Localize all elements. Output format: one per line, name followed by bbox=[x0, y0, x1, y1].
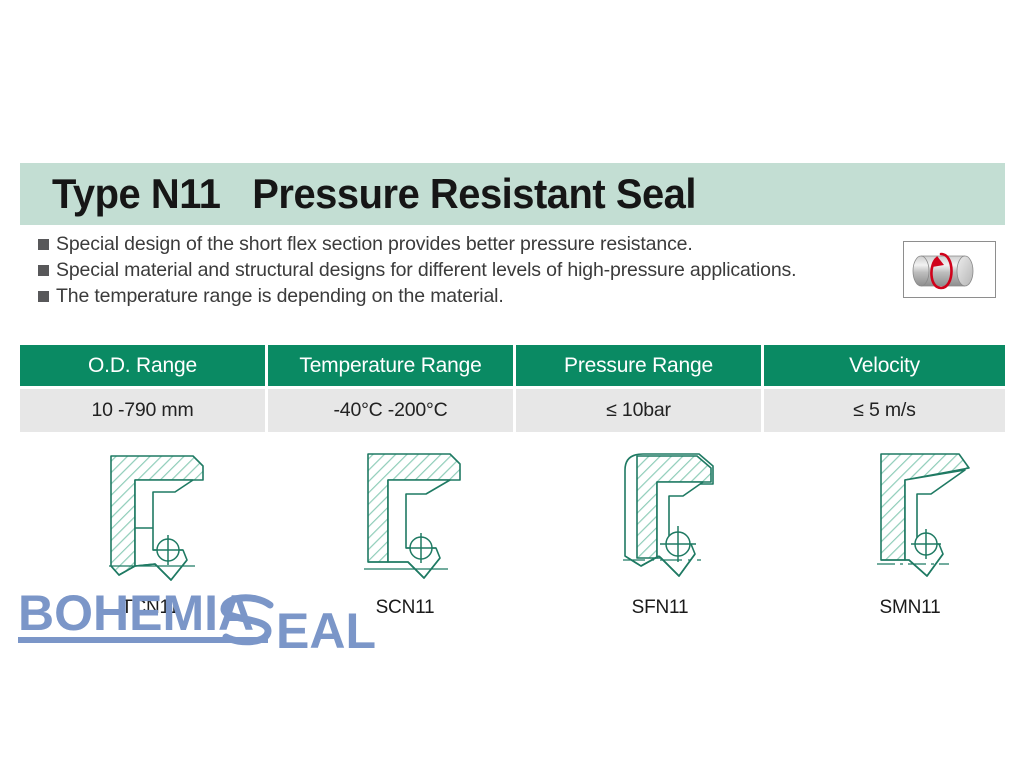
seal-diagram-label: TCN11 bbox=[55, 597, 245, 619]
table-header-cell: O.D. Range bbox=[20, 345, 265, 386]
square-bullet-icon bbox=[38, 239, 49, 250]
feature-item: Special design of the short flex section… bbox=[38, 232, 888, 257]
table-header-cell: Temperature Range bbox=[268, 345, 513, 386]
table-header-cell: Pressure Range bbox=[516, 345, 761, 386]
seal-diagram-label: SCN11 bbox=[310, 597, 500, 619]
seal-diagram-sfn11: SFN11 bbox=[565, 440, 755, 620]
table-header-row: O.D. Range Temperature Range Pressure Ra… bbox=[20, 345, 1005, 386]
seal-diagram-label: SMN11 bbox=[815, 597, 1005, 619]
shaft-rotation-icon bbox=[903, 241, 996, 298]
watermark-underline bbox=[18, 637, 268, 643]
table-value-row: 10 -790 mm -40°C -200°C ≤ 10bar ≤ 5 m/s bbox=[20, 389, 1005, 432]
seal-diagram-scn11: SCN11 bbox=[310, 440, 500, 620]
feature-item-text: Special material and structural designs … bbox=[56, 258, 796, 283]
table-value-cell: ≤ 10bar bbox=[516, 389, 761, 432]
feature-list: Special design of the short flex section… bbox=[38, 232, 888, 310]
square-bullet-icon bbox=[38, 265, 49, 276]
specification-table: O.D. Range Temperature Range Pressure Ra… bbox=[20, 345, 1005, 432]
table-value-cell: -40°C -200°C bbox=[268, 389, 513, 432]
feature-item-text: The temperature range is depending on th… bbox=[56, 284, 504, 309]
feature-item-text: Special design of the short flex section… bbox=[56, 232, 693, 257]
seal-diagram-smn11: SMN11 bbox=[815, 440, 1005, 620]
square-bullet-icon bbox=[38, 291, 49, 302]
seal-diagram-label: SFN11 bbox=[565, 597, 755, 619]
table-value-cell: ≤ 5 m/s bbox=[764, 389, 1005, 432]
seal-diagram-strip: TCN11 SCN11 bbox=[20, 440, 1005, 620]
seal-diagram-tcn11: TCN11 bbox=[55, 440, 245, 620]
table-value-cell: 10 -790 mm bbox=[20, 389, 265, 432]
page-title-band: Type N11 Pressure Resistant Seal bbox=[20, 163, 1005, 225]
feature-item: The temperature range is depending on th… bbox=[38, 284, 888, 309]
page-title: Type N11 Pressure Resistant Seal bbox=[52, 170, 696, 218]
table-header-cell: Velocity bbox=[764, 345, 1005, 386]
feature-item: Special material and structural designs … bbox=[38, 258, 888, 283]
